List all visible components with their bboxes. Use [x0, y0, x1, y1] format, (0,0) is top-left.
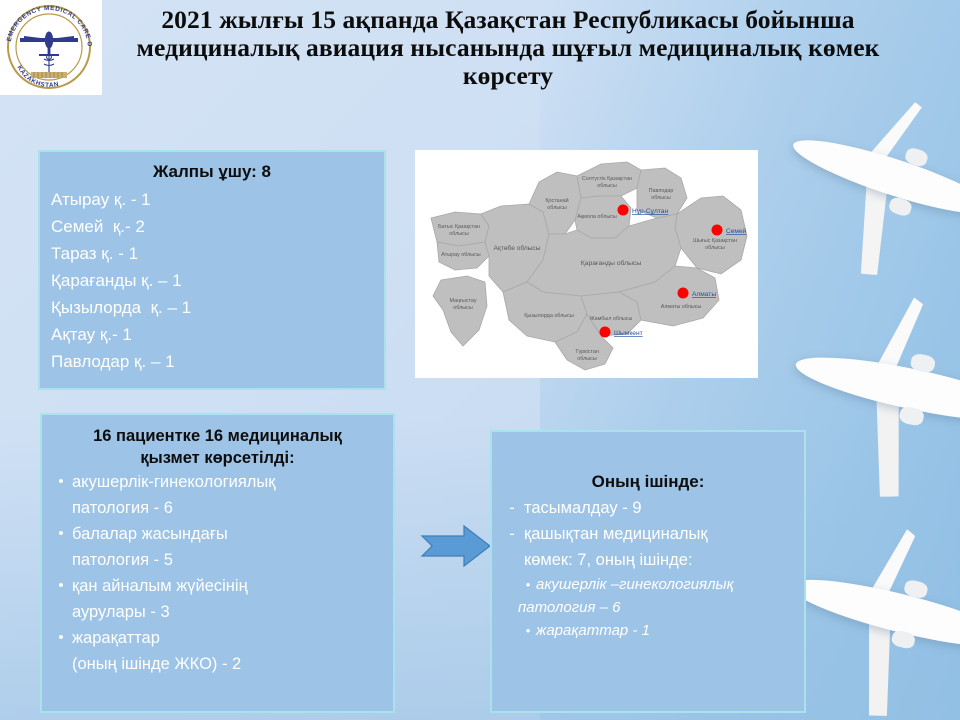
svg-text:облысы: облысы — [651, 195, 671, 201]
svg-text:Қарағанды облысы: Қарағанды облысы — [581, 259, 642, 267]
svg-text:Түркістан: Түркістан — [575, 349, 599, 355]
svg-text:Нұр-Сұлтан: Нұр-Сұлтан — [632, 208, 668, 215]
svg-text:Батыс Қазақстан: Батыс Қазақстан — [438, 224, 480, 230]
list-item-label: балалар жасындағы — [72, 521, 393, 547]
svg-text:Маңғыстау: Маңғыстау — [449, 298, 476, 304]
page-title: 2021 жылғы 15 ақпанда Қазақстан Республи… — [108, 6, 908, 90]
svg-text:Қостанай: Қостанай — [545, 197, 568, 204]
svg-text:облысы: облысы — [547, 205, 567, 211]
svg-text:Атырау облысы: Атырау облысы — [441, 252, 481, 258]
svg-text:облысы: облысы — [449, 231, 469, 237]
list-item: • акушерлік-гинекологиялық — [42, 469, 393, 495]
svg-text:Жамбыл облысы: Жамбыл облысы — [590, 316, 633, 322]
bullet-icon: • — [520, 619, 536, 642]
dash-icon: - — [500, 495, 524, 521]
services-heading-line1: 16 пациентке 16 медициналық — [42, 425, 393, 447]
list-item-label: қашықтан медициналық — [524, 521, 804, 547]
svg-text:Ақтөбе облысы: Ақтөбе облысы — [494, 244, 541, 252]
flights-heading: Жалпы ұшу: 8 — [40, 160, 384, 183]
list-item-label: акушерлік-гинекологиялық — [72, 469, 393, 495]
list-item-label-cont: (оның ішінде ЖКО) - 2 — [42, 651, 393, 677]
kazakhstan-map: Батыс Қазақстаноблысы Атырау облысы Маңғ… — [415, 150, 758, 378]
flights-line: Атырау қ. - 1 — [40, 186, 384, 213]
list-item-label-cont: патология - 5 — [42, 547, 393, 573]
bullet-icon: • — [50, 625, 72, 651]
sub-list-item: • акушерлік –гинекологиялық — [492, 573, 804, 596]
airplane-icon — [747, 65, 960, 326]
list-item-label: жарақаттар — [72, 625, 393, 651]
patient-services-box: 16 пациентке 16 медициналық қызмет көрсе… — [40, 413, 395, 713]
services-heading-line2: қызмет көрсетілді: — [42, 447, 393, 469]
flights-line: Қарағанды қ. – 1 — [40, 267, 384, 294]
flights-summary-box: Жалпы ұшу: 8 Атырау қ. - 1 Семей қ.- 2 Т… — [38, 150, 386, 390]
bullet-icon: • — [520, 573, 536, 596]
list-item-label-cont: көмек: 7, оның ішінде: — [492, 547, 804, 573]
bullet-icon: • — [50, 469, 72, 495]
svg-text:Павлодар: Павлодар — [649, 188, 674, 194]
sub-list-item-label: жарақаттар - 1 — [536, 619, 650, 642]
list-item: • балалар жасындағы — [42, 521, 393, 547]
svg-text:Ақмола облысы: Ақмола облысы — [577, 214, 617, 220]
flights-line: Павлодар қ. – 1 — [40, 348, 384, 375]
breakdown-box: Оның ішінде: - тасымалдау - 9 - қашықтан… — [490, 430, 806, 713]
slide-canvas: EMERGENCY MEDICAL CARE OF KAZAKHSTAN — [0, 0, 960, 720]
svg-text:облысы: облысы — [705, 245, 725, 251]
svg-text:Алматы облысы: Алматы облысы — [661, 304, 702, 310]
sub-list-item: • жарақаттар - 1 — [492, 619, 804, 642]
svg-text:облысы: облысы — [577, 356, 597, 362]
list-item: • жарақаттар — [42, 625, 393, 651]
flights-line: Ақтау қ.- 1 — [40, 321, 384, 348]
svg-text:облысы: облысы — [453, 305, 473, 311]
breakdown-heading: Оның ішінде: — [492, 470, 804, 493]
list-item-label: тасымалдау - 9 — [524, 495, 804, 521]
list-item-label-cont: аурулары - 3 — [42, 599, 393, 625]
list-item: - қашықтан медициналық — [492, 521, 804, 547]
dash-icon: - — [500, 521, 524, 547]
flights-line: Қызылорда қ. – 1 — [40, 294, 384, 321]
svg-text:Алматы: Алматы — [692, 291, 716, 298]
svg-text:Шымкент: Шымкент — [614, 330, 643, 337]
flights-line: Семей қ.- 2 — [40, 213, 384, 240]
flights-line: Тараз қ. - 1 — [40, 240, 384, 267]
list-item: • қан айналым жүйесінің — [42, 573, 393, 599]
right-arrow-icon — [420, 524, 492, 568]
list-item-label-cont: патология - 6 — [42, 495, 393, 521]
list-item: - тасымалдау - 9 — [492, 495, 804, 521]
organization-logo: EMERGENCY MEDICAL CARE OF KAZAKHSTAN — [0, 0, 102, 95]
bullet-icon: • — [50, 521, 72, 547]
svg-text:Қызылорда облысы: Қызылорда облысы — [524, 313, 574, 319]
svg-text:Солтүстік Қазақстан: Солтүстік Қазақстан — [582, 176, 632, 182]
svg-text:Семей: Семей — [726, 227, 747, 235]
list-item-label: қан айналым жүйесінің — [72, 573, 393, 599]
sub-list-item-label-cont: патология – 6 — [492, 596, 804, 619]
svg-text:Шығыс Қазақстан: Шығыс Қазақстан — [693, 238, 737, 244]
svg-text:облысы: облысы — [597, 183, 617, 189]
bullet-icon: • — [50, 573, 72, 599]
sub-list-item-label: акушерлік –гинекологиялық — [536, 573, 734, 596]
